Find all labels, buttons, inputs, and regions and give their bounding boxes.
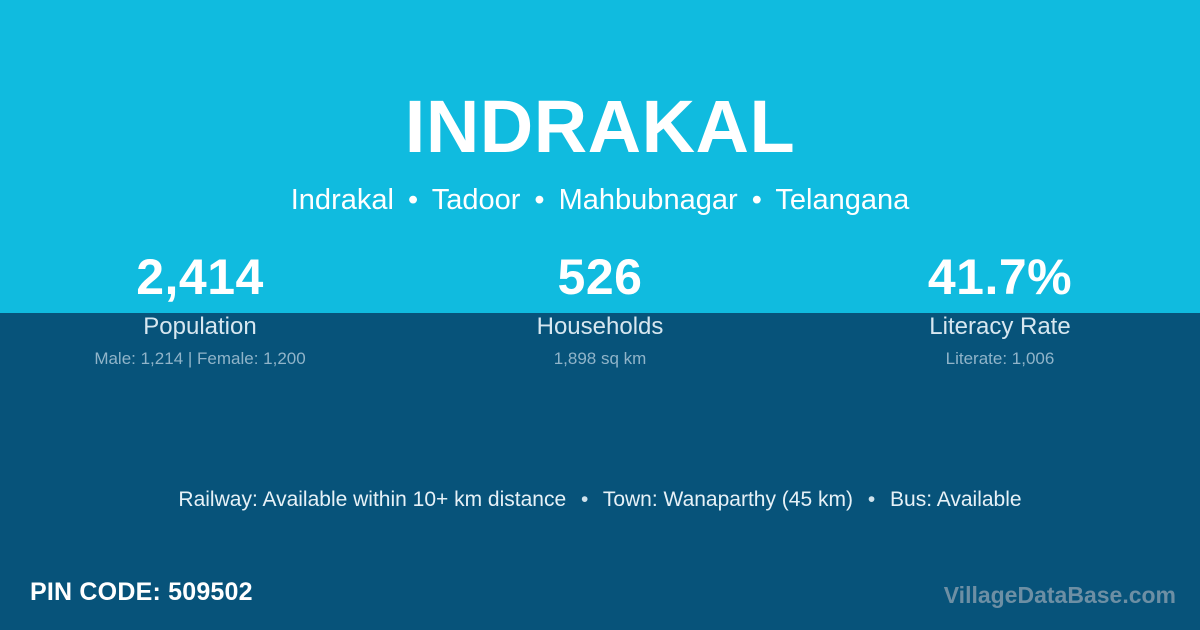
infrastructure-line: Railway: Available within 10+ km distanc…	[0, 486, 1200, 514]
stat-value: 526	[400, 248, 800, 306]
breadcrumb-part-village: Indrakal	[291, 184, 394, 216]
village-info-card: INDRAKAL Indrakal • Tadoor • Mahbubnagar…	[0, 0, 1200, 630]
stat-subtext: Literate: 1,006	[800, 349, 1200, 369]
stats-row: 2,414 Population Male: 1,214 | Female: 1…	[0, 248, 1200, 383]
pin-code: PIN CODE: 509502	[30, 576, 253, 608]
stat-label: Literacy Rate	[800, 313, 1200, 341]
card-footer: PIN CODE: 509502 VillageDataBase.com	[0, 570, 1200, 630]
breadcrumb-part-district: Mahbubnagar	[559, 184, 738, 216]
breadcrumb-separator: •	[528, 184, 550, 216]
site-watermark: VillageDataBase.com	[944, 580, 1176, 610]
breadcrumb-separator: •	[746, 184, 768, 216]
stat-population: 2,414 Population Male: 1,214 | Female: 1…	[0, 248, 400, 383]
breadcrumb-part-state: Telangana	[775, 184, 909, 216]
breadcrumb-separator: •	[402, 184, 424, 216]
infra-separator: •	[859, 488, 884, 511]
stat-subtext: Male: 1,214 | Female: 1,200	[0, 349, 400, 369]
breadcrumb: Indrakal • Tadoor • Mahbubnagar • Telang…	[0, 182, 1200, 218]
infra-separator: •	[572, 488, 597, 511]
page-title: INDRAKAL	[0, 82, 1200, 172]
stat-label: Population	[0, 313, 400, 341]
infra-item-bus: Bus: Available	[890, 488, 1022, 511]
stat-literacy-rate: 41.7% Literacy Rate Literate: 1,006	[800, 248, 1200, 383]
infra-item-railway: Railway: Available within 10+ km distanc…	[178, 488, 566, 511]
infra-item-town: Town: Wanaparthy (45 km)	[603, 488, 853, 511]
stat-value: 41.7%	[800, 248, 1200, 306]
breadcrumb-part-block: Tadoor	[432, 184, 521, 216]
stat-subtext: 1,898 sq km	[400, 349, 800, 369]
stat-households: 526 Households 1,898 sq km	[400, 248, 800, 383]
stat-value: 2,414	[0, 248, 400, 306]
stat-label: Households	[400, 313, 800, 341]
